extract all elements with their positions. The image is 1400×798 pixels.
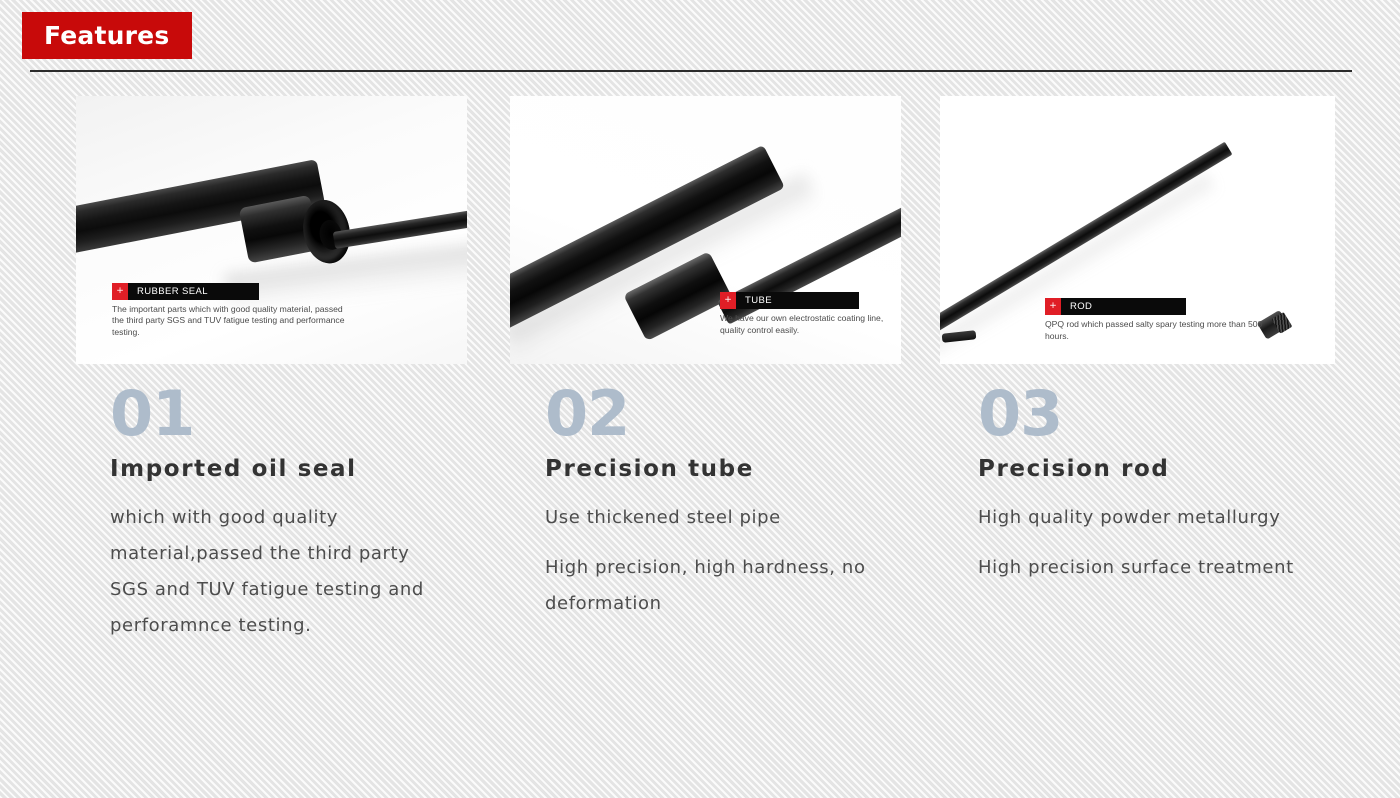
caption-title-bar-1: + RUBBER SEAL — [112, 283, 259, 300]
feature-column-2: 02 Precision tube Use thickened steel pi… — [545, 382, 885, 622]
caption-title-3: ROD — [1061, 298, 1092, 315]
feature-column-1: 01 Imported oil seal which with good qua… — [110, 382, 440, 644]
feature-paragraph: High precision, high hardness, no deform… — [545, 550, 885, 622]
caption-title-2: TUBE — [736, 292, 772, 309]
feature-image-panel-2: + TUBE We have our own electrostatic coa… — [510, 96, 901, 364]
features-header-label: Features — [44, 23, 169, 48]
feature-paragraph: Use thickened steel pipe — [545, 500, 885, 536]
caption-description-3: QPQ rod which passed salty spary testing… — [1045, 315, 1275, 342]
feature-body-3: High quality powder metallurgy High prec… — [978, 500, 1318, 586]
caption-description-1: The important parts which with good qual… — [112, 300, 352, 339]
features-header-badge: Features — [22, 12, 192, 59]
caption-description-2: We have our own electrostatic coating li… — [720, 309, 901, 336]
feature-heading-2: Precision tube — [545, 456, 885, 482]
photo-caption-2: + TUBE We have our own electrostatic coa… — [720, 292, 901, 336]
plus-icon: + — [112, 283, 128, 300]
feature-heading-3: Precision rod — [978, 456, 1318, 482]
plus-icon: + — [720, 292, 736, 309]
caption-title-bar-2: + TUBE — [720, 292, 859, 309]
photo-caption-1: + RUBBER SEAL The important parts which … — [112, 283, 352, 339]
feature-paragraph: which with good quality material,passed … — [110, 500, 440, 644]
feature-column-3: 03 Precision rod High quality powder met… — [978, 382, 1318, 586]
feature-paragraph: High quality powder metallurgy — [978, 500, 1318, 536]
feature-image-panel-3: + ROD QPQ rod which passed salty spary t… — [940, 96, 1335, 364]
feature-number-2: 02 — [545, 382, 885, 446]
feature-body-2: Use thickened steel pipe High precision,… — [545, 500, 885, 622]
feature-number-3: 03 — [978, 382, 1318, 446]
caption-title-1: RUBBER SEAL — [128, 283, 208, 300]
feature-body-1: which with good quality material,passed … — [110, 500, 440, 644]
plus-icon: + — [1045, 298, 1061, 315]
feature-image-panel-1: + RUBBER SEAL The important parts which … — [76, 96, 467, 364]
feature-heading-1: Imported oil seal — [110, 456, 440, 482]
feature-paragraph: High precision surface treatment — [978, 550, 1318, 586]
caption-title-bar-3: + ROD — [1045, 298, 1186, 315]
photo-caption-3: + ROD QPQ rod which passed salty spary t… — [1045, 298, 1275, 342]
header-divider-rule — [30, 70, 1352, 72]
feature-number-1: 01 — [110, 382, 440, 446]
